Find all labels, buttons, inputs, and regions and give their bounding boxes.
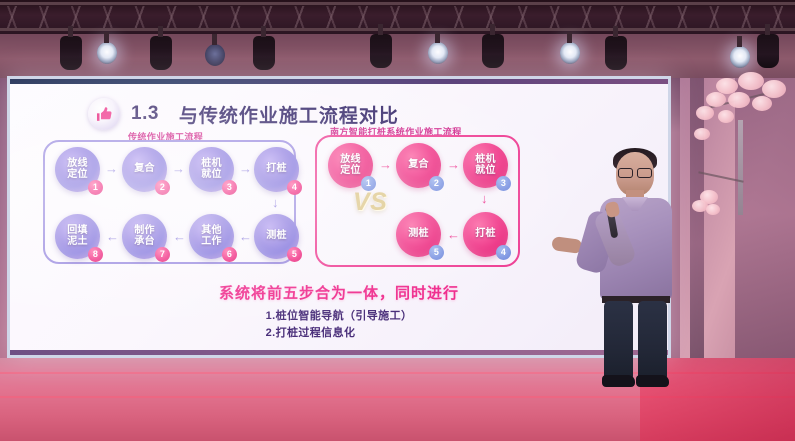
conclusion-headline: 系统将前五步合为一体，同时进行 bbox=[10, 282, 668, 303]
blossom bbox=[706, 92, 726, 107]
stage-light-icon bbox=[757, 34, 779, 68]
node-line2: 泥土 bbox=[67, 237, 88, 248]
node-badge: 4 bbox=[287, 180, 302, 195]
node-line2: 承台 bbox=[134, 237, 155, 248]
page-title: 与传统作业施工流程对比 bbox=[179, 101, 399, 128]
shoe-right bbox=[636, 375, 669, 387]
screenshot-stage: 1.3 与传统作业施工流程对比 传统作业施工流程 放线 定位 1 → 复合 2 … bbox=[0, 0, 795, 441]
node-line1: 桩机 bbox=[201, 159, 222, 170]
right-node-5: 测桩 5 bbox=[396, 212, 441, 257]
projection-screen: 1.3 与传统作业施工流程对比 传统作业施工流程 放线 定位 1 → 复合 2 … bbox=[7, 76, 671, 358]
node-line1: 回填 bbox=[67, 226, 88, 237]
node-line1: 放线 bbox=[340, 155, 361, 166]
left-arrow-6: ← bbox=[106, 230, 119, 243]
hanging-rod bbox=[738, 120, 743, 215]
left-node-3: 桩机 就位 3 bbox=[189, 147, 234, 192]
left-node-1: 放线 定位 1 bbox=[55, 147, 100, 192]
left-node-2: 复合 2 bbox=[122, 147, 167, 192]
blossom bbox=[696, 106, 714, 120]
screen-bottom-edge bbox=[10, 350, 668, 355]
left-node-7: 制作 承台 7 bbox=[122, 214, 167, 259]
node-line1: 复合 bbox=[408, 160, 429, 171]
stage-light-icon bbox=[605, 36, 627, 70]
glasses-icon bbox=[618, 168, 652, 176]
blossom bbox=[728, 92, 750, 108]
conclusion-block: 系统将前五步合为一体，同时进行 1.桩位智能导航（引导施工） 2.打桩过程信息化 bbox=[10, 282, 668, 341]
conclusion-point-2: 2.打桩过程信息化 bbox=[266, 325, 413, 342]
slide-surface: 1.3 与传统作业施工流程对比 传统作业施工流程 放线 定位 1 → 复合 2 … bbox=[10, 79, 668, 355]
slide-section-number: 1.3 bbox=[131, 103, 159, 125]
conclusion-points: 1.桩位智能导航（引导施工） 2.打桩过程信息化 bbox=[266, 308, 413, 341]
node-badge: 5 bbox=[287, 247, 302, 262]
stage-light-icon bbox=[60, 36, 82, 70]
node-line2: 工作 bbox=[201, 237, 222, 248]
right-node-2: 复合 2 bbox=[396, 143, 441, 188]
right-arrow-2: → bbox=[447, 158, 460, 171]
right-arrow-down: ↓ bbox=[481, 192, 488, 205]
node-line1: 打桩 bbox=[475, 229, 496, 240]
left-node-6: 其他 工作 6 bbox=[189, 214, 234, 259]
node-line2: 定位 bbox=[67, 170, 88, 181]
left-node-4: 打桩 4 bbox=[254, 147, 299, 192]
thumbs-up-icon bbox=[88, 98, 120, 130]
stage-light-icon bbox=[482, 34, 504, 68]
ceiling bbox=[0, 30, 795, 78]
right-node-1: 放线 定位 1 bbox=[328, 143, 373, 188]
left-arrow-3: → bbox=[239, 162, 252, 175]
presentation-slide: 1.3 与传统作业施工流程对比 传统作业施工流程 放线 定位 1 → 复合 2 … bbox=[10, 84, 668, 350]
right-arrow-3: ← bbox=[447, 228, 460, 241]
node-badge: 3 bbox=[496, 176, 511, 191]
right-node-3: 桩机 就位 3 bbox=[463, 143, 508, 188]
node-badge: 1 bbox=[361, 176, 376, 191]
stage-light-icon bbox=[205, 44, 225, 66]
left-node-8: 回填 泥土 8 bbox=[55, 214, 100, 259]
node-badge: 1 bbox=[88, 180, 103, 195]
left-node-5: 测桩 5 bbox=[254, 214, 299, 259]
node-badge: 7 bbox=[155, 247, 170, 262]
leg-right bbox=[638, 301, 667, 379]
stage-light-icon bbox=[253, 36, 275, 70]
blossom bbox=[762, 80, 786, 98]
node-line2: 就位 bbox=[201, 170, 222, 181]
right-arrow-1: → bbox=[379, 158, 392, 171]
node-badge: 2 bbox=[429, 176, 444, 191]
node-badge: 8 bbox=[88, 247, 103, 262]
conclusion-point-1: 1.桩位智能导航（引导施工） bbox=[266, 308, 413, 325]
node-line1: 其他 bbox=[201, 226, 222, 237]
right-node-4: 打桩 4 bbox=[463, 212, 508, 257]
presenter bbox=[576, 138, 694, 398]
left-arrow-2: → bbox=[172, 162, 185, 175]
node-badge: 3 bbox=[222, 180, 237, 195]
left-arrow-5: ← bbox=[173, 230, 186, 243]
lighting-truss bbox=[0, 0, 795, 34]
legs bbox=[602, 301, 670, 379]
node-line1: 制作 bbox=[134, 226, 155, 237]
node-line1: 测桩 bbox=[408, 229, 429, 240]
node-line2: 定位 bbox=[340, 166, 361, 177]
blossom bbox=[718, 110, 734, 123]
left-arrow-down: ↓ bbox=[272, 196, 279, 209]
blossom bbox=[706, 204, 720, 215]
node-badge: 2 bbox=[155, 180, 170, 195]
stage-light-icon bbox=[560, 42, 580, 64]
stage-light-icon bbox=[97, 42, 117, 64]
node-badge: 5 bbox=[429, 245, 444, 260]
stage-light-icon bbox=[428, 42, 448, 64]
left-arrow-1: → bbox=[105, 162, 118, 175]
node-badge: 4 bbox=[496, 245, 511, 260]
node-line1: 复合 bbox=[134, 164, 155, 175]
node-badge: 6 bbox=[222, 247, 237, 262]
blossom bbox=[694, 128, 710, 140]
stage-light-icon bbox=[730, 46, 750, 68]
node-line1: 测桩 bbox=[266, 231, 287, 242]
stage-light-icon bbox=[370, 34, 392, 68]
shoe-left bbox=[602, 375, 635, 387]
stage-light-icon bbox=[150, 36, 172, 70]
blossom bbox=[738, 72, 764, 90]
node-line1: 桩机 bbox=[475, 155, 496, 166]
leg-left bbox=[604, 301, 633, 379]
blossom bbox=[752, 96, 772, 111]
node-line1: 放线 bbox=[67, 159, 88, 170]
node-line1: 打桩 bbox=[266, 164, 287, 175]
node-line2: 就位 bbox=[475, 166, 496, 177]
left-arrow-4: ← bbox=[239, 230, 252, 243]
